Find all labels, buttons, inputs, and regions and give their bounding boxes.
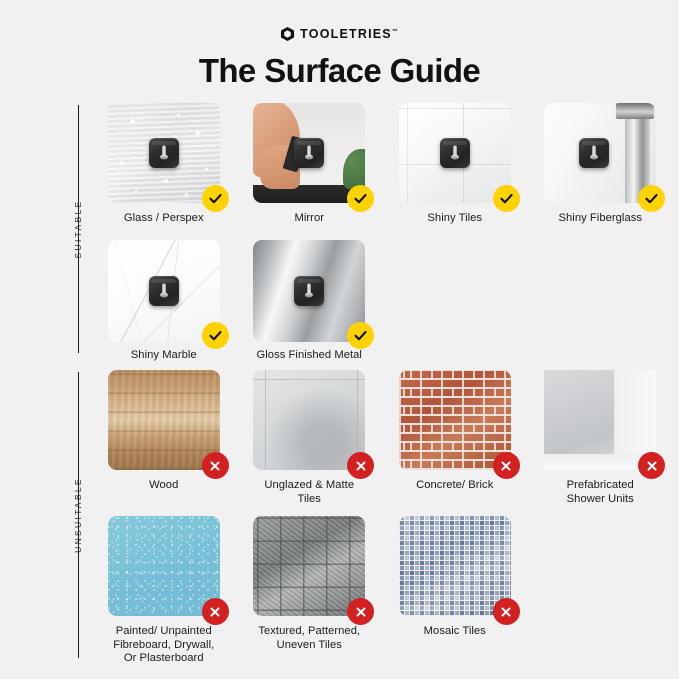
grid-spacer	[536, 516, 666, 666]
swatch-wrap	[108, 370, 220, 470]
suitable-check-badge	[638, 185, 665, 212]
hook-peg	[307, 284, 311, 297]
swatch-wrap	[253, 516, 365, 616]
brand-name: TOOLETRIES™	[300, 28, 398, 41]
hook-peg	[453, 146, 457, 159]
unsuitable-cross-badge	[493, 452, 520, 479]
section-unsuitable: UNSUITABLE Wood	[0, 370, 679, 660]
texture-wood	[108, 370, 220, 470]
hook-product-icon	[149, 276, 179, 306]
texture-painted-fibreboard	[108, 516, 220, 616]
unsuitable-rail-label: UNSUITABLE	[73, 477, 83, 553]
cross-icon	[354, 605, 368, 619]
hook-product-icon	[294, 138, 324, 168]
surface-card-shiny-tiles[interactable]: Shiny Tiles	[390, 103, 520, 226]
hook-peg	[162, 146, 166, 159]
texture-brick	[399, 370, 511, 470]
texture-matte-tiles	[253, 370, 365, 470]
hexagon-logo-icon	[281, 27, 294, 41]
brand-trademark: ™	[392, 29, 398, 35]
surface-card-gloss-finished-metal[interactable]: Gloss Finished Metal	[245, 240, 375, 363]
surface-swatch-unglazed-matte-tiles	[253, 370, 365, 470]
suitable-check-badge	[347, 185, 374, 212]
suitable-check-badge	[202, 322, 229, 349]
surface-card-unglazed-matte-tiles[interactable]: Unglazed & Matte Tiles	[245, 370, 375, 506]
unsuitable-cross-badge	[347, 452, 374, 479]
surface-swatch-textured-uneven-tiles	[253, 516, 365, 616]
check-icon	[644, 191, 659, 206]
grid-spacer	[536, 240, 666, 363]
surface-swatch-shiny-tiles	[399, 103, 511, 203]
unsuitable-cross-badge	[202, 452, 229, 479]
surface-guide-page: TOOLETRIES™ The Surface Guide SUITABLE	[0, 0, 679, 679]
surface-card-mosaic-tiles[interactable]: Mosaic Tiles	[390, 516, 520, 666]
hook-product-icon	[294, 276, 324, 306]
surface-card-mirror[interactable]: Mirror	[245, 103, 375, 226]
unsuitable-grid-row-2: Painted/ Unpainted Fibreboard, Drywall, …	[99, 516, 665, 666]
section-suitable: SUITABLE Glass / Perspex	[0, 103, 679, 355]
surface-label: Wood	[149, 479, 178, 493]
texture-mosaic-tiles	[399, 516, 511, 616]
surface-card-shiny-marble[interactable]: Shiny Marble	[99, 240, 229, 363]
cross-icon	[499, 605, 513, 619]
surface-label: Shiny Fiberglass	[559, 212, 643, 226]
hook-product-icon	[149, 138, 179, 168]
hook-peg	[307, 146, 311, 159]
surface-label: Textured, Patterned, Uneven Tiles	[258, 625, 360, 652]
swatch-wrap	[544, 103, 656, 203]
unsuitable-grid-row-1: Wood Unglazed & Matte Tiles	[99, 370, 665, 506]
surface-swatch-painted-fibreboard	[108, 516, 220, 616]
hook-peg	[592, 146, 596, 159]
surface-swatch-concrete-brick	[399, 370, 511, 470]
suitable-check-badge	[493, 185, 520, 212]
surface-card-wood[interactable]: Wood	[99, 370, 229, 506]
faucet-head	[616, 103, 654, 119]
surface-swatch-glass-perspex	[108, 103, 220, 203]
suitable-grid-row-1: Glass / Perspex	[99, 103, 665, 226]
grid-spacer	[390, 240, 520, 363]
surface-swatch-shiny-marble	[108, 240, 220, 342]
surface-label: Shiny Marble	[131, 349, 197, 363]
swatch-wrap	[108, 240, 220, 340]
surface-label: Glass / Perspex	[124, 212, 204, 226]
swatch-wrap	[399, 103, 511, 203]
surface-card-concrete-brick[interactable]: Concrete/ Brick	[390, 370, 520, 506]
hook-product-icon	[440, 138, 470, 168]
check-icon	[208, 328, 223, 343]
surface-card-shiny-fiberglass[interactable]: Shiny Fiberglass	[536, 103, 666, 226]
swatch-wrap	[399, 516, 511, 616]
brand-name-text: TOOLETRIES	[300, 27, 392, 41]
surface-label: Concrete/ Brick	[416, 479, 493, 493]
surface-swatch-gloss-finished-metal	[253, 240, 365, 342]
swatch-wrap	[108, 103, 220, 203]
suitable-grid-row-2: Shiny Marble Gloss Finished Metal	[99, 240, 665, 363]
brand-lockup: TOOLETRIES™	[0, 27, 679, 41]
surface-card-glass-perspex[interactable]: Glass / Perspex	[99, 103, 229, 226]
surface-swatch-prefabricated-shower-units	[544, 370, 656, 470]
suitable-check-badge	[202, 185, 229, 212]
surface-swatch-shiny-fiberglass	[544, 103, 656, 203]
unsuitable-cross-badge	[202, 598, 229, 625]
check-icon	[353, 328, 368, 343]
hook-product-icon	[579, 138, 609, 168]
cross-icon	[354, 459, 368, 473]
suitable-check-badge	[347, 322, 374, 349]
surface-swatch-mirror	[253, 103, 365, 203]
surface-card-textured-uneven-tiles[interactable]: Textured, Patterned, Uneven Tiles	[245, 516, 375, 666]
swatch-wrap	[544, 370, 656, 470]
cross-icon	[208, 605, 222, 619]
plant-shape	[343, 149, 365, 189]
swatch-wrap	[253, 103, 365, 203]
surface-label: Prefabricated Shower Units	[567, 479, 634, 506]
surface-card-prefabricated-shower-units[interactable]: Prefabricated Shower Units	[536, 370, 666, 506]
surface-label: Shiny Tiles	[427, 212, 482, 226]
suitable-rail-label: SUITABLE	[73, 200, 83, 259]
cross-icon	[645, 459, 659, 473]
hook-peg	[162, 284, 166, 297]
unsuitable-cross-badge	[638, 452, 665, 479]
surface-label: Painted/ Unpainted Fibreboard, Drywall, …	[113, 625, 214, 666]
swatch-wrap	[108, 516, 220, 616]
cross-icon	[499, 459, 513, 473]
unsuitable-cross-badge	[347, 598, 374, 625]
unsuitable-cross-badge	[493, 598, 520, 625]
swatch-wrap	[253, 370, 365, 470]
swatch-wrap	[399, 370, 511, 470]
check-icon	[353, 191, 368, 206]
surface-label: Mosaic Tiles	[424, 625, 486, 639]
check-icon	[208, 191, 223, 206]
texture-prefab-shower	[544, 370, 656, 470]
texture-textured-stone	[253, 516, 365, 616]
swatch-wrap	[253, 240, 365, 340]
cross-icon	[208, 459, 222, 473]
check-icon	[499, 191, 514, 206]
surface-swatch-wood	[108, 370, 220, 470]
surface-swatch-mosaic-tiles	[399, 516, 511, 616]
surface-card-painted-fibreboard[interactable]: Painted/ Unpainted Fibreboard, Drywall, …	[99, 516, 229, 666]
surface-label: Mirror	[294, 212, 324, 226]
page-title: The Surface Guide	[0, 52, 679, 90]
surface-label: Unglazed & Matte Tiles	[264, 479, 354, 506]
surface-label: Gloss Finished Metal	[257, 349, 362, 363]
